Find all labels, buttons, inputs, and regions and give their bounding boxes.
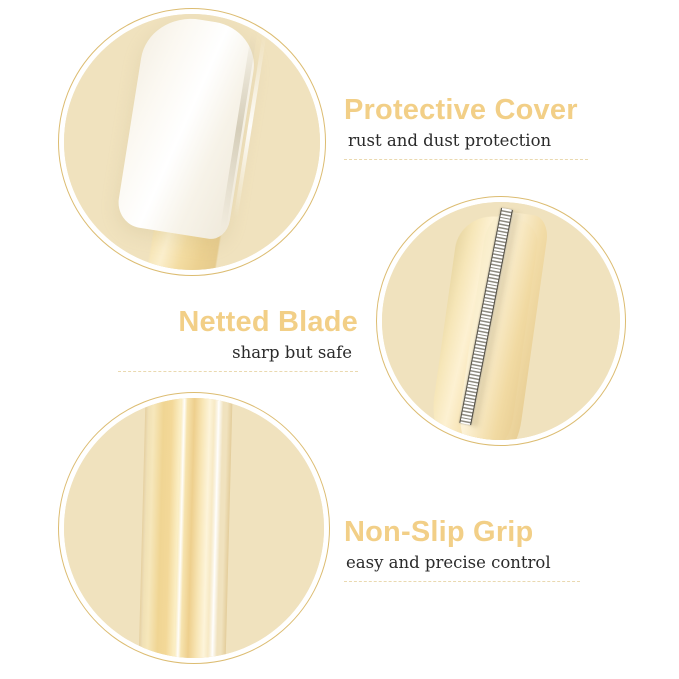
- netted-blade-scene: [382, 202, 620, 440]
- feature-photo-bubble-protective-cover: [58, 8, 326, 276]
- feature-headline-protective-cover: Protective Cover: [344, 93, 588, 127]
- protective-cover-photo: [64, 14, 320, 270]
- feature-photo-bubble-netted-blade: [376, 196, 626, 446]
- caption-divider-netted-blade: [118, 371, 358, 372]
- non-slip-grip-scene: [64, 398, 324, 658]
- feature-headline-netted-blade: Netted Blade: [118, 305, 358, 339]
- protective-cover-scene: [64, 14, 320, 270]
- caption-divider-protective-cover: [344, 159, 588, 160]
- feature-headline-non-slip-grip: Non-Slip Grip: [344, 515, 580, 549]
- feature-subtitle-netted-blade: sharp but safe: [118, 342, 358, 364]
- feature-caption-netted-blade: Netted Blade sharp but safe: [118, 305, 358, 372]
- feature-photo-bubble-non-slip-grip: [58, 392, 330, 664]
- caption-divider-non-slip-grip: [344, 581, 580, 582]
- feature-caption-non-slip-grip: Non-Slip Grip easy and precise control: [344, 515, 580, 582]
- netted-blade-photo: [382, 202, 620, 440]
- non-slip-grip-photo: [64, 398, 324, 658]
- feature-caption-protective-cover: Protective Cover rust and dust protectio…: [344, 93, 588, 160]
- feature-subtitle-protective-cover: rust and dust protection: [344, 130, 588, 152]
- infographic-canvas: Protective Cover rust and dust protectio…: [0, 0, 679, 679]
- feature-subtitle-non-slip-grip: easy and precise control: [344, 552, 580, 574]
